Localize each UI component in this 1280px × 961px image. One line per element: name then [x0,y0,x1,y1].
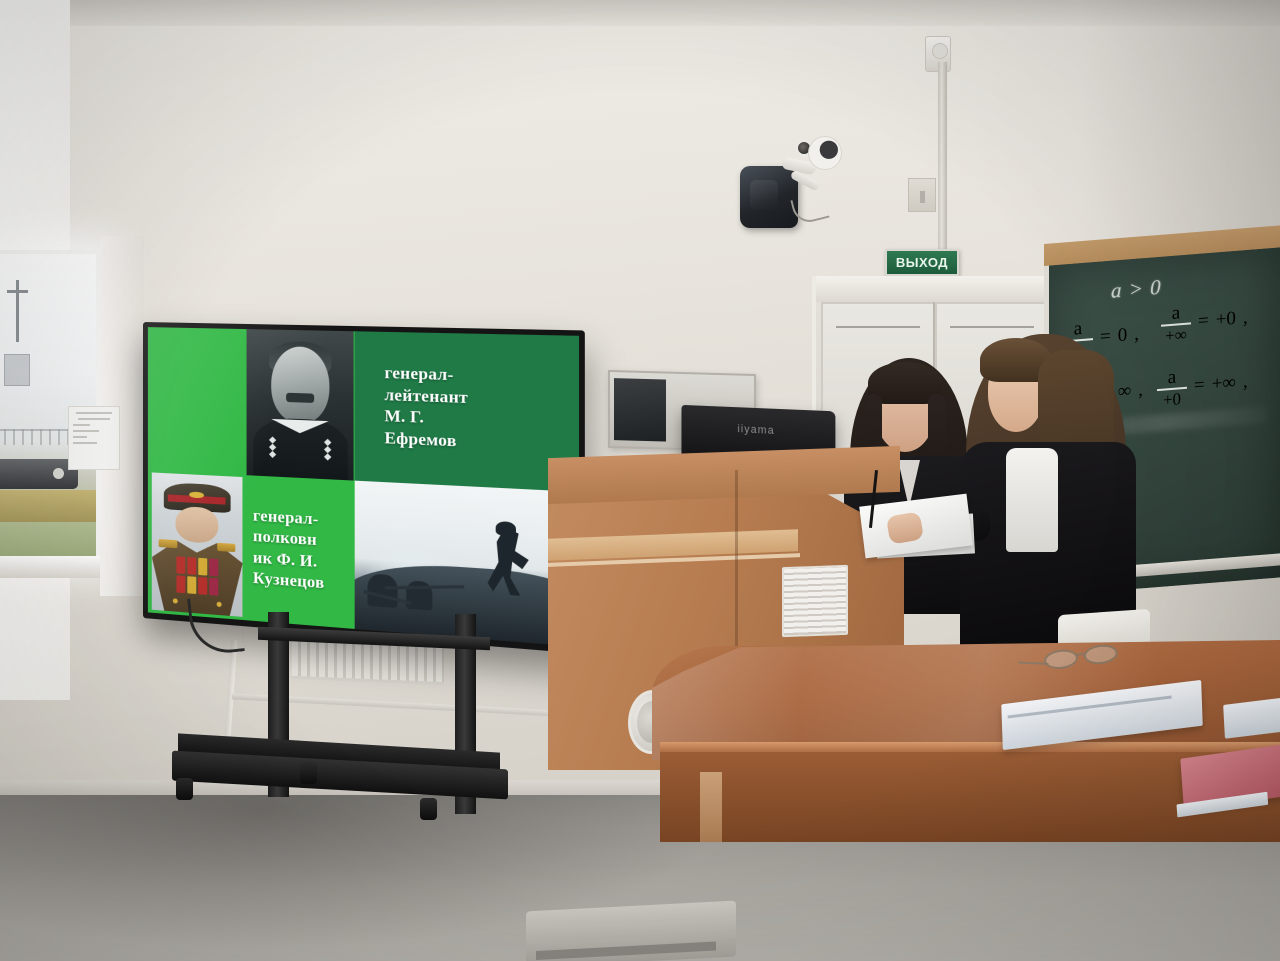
outdoor-building [4,354,30,386]
slide-quadrant-top-right: генерал- лейтенант М. Г. Ефремов [354,331,579,491]
portrait-rank-insignia [266,438,335,462]
outdoor-pole [16,280,19,342]
efremov-caption-line-3: М. Г. [384,407,468,432]
chalk-denominator: +∞ [1165,326,1187,345]
portrait-face [271,346,329,424]
tv-stand-caster [176,778,193,800]
chalk-numerator: a [1168,368,1176,388]
comma: , [1243,307,1248,329]
portrait-epaulette-left [159,539,177,548]
presenter-right [966,330,1130,660]
tv-stand-caster [300,762,317,784]
window-glass [0,254,96,556]
lectern-vent-grille [782,565,848,637]
efremov-caption-line-4: Ефремов [384,428,468,453]
comma: , [1138,379,1143,401]
photo-prone-soldier-1 [367,573,397,608]
monitor-brand-label: iiyama [737,423,774,437]
wall-pipe [938,62,947,262]
outdoor-hedge [0,490,96,522]
wall-socket [908,178,936,212]
foreground-chair[interactable] [526,900,736,961]
equals-sign: = [1194,375,1205,398]
chalk-condition: a > 0 [1111,275,1162,304]
chalk-numerator: a [1172,303,1180,323]
efremov-caption: генерал- лейтенант М. Г. Ефремов [384,364,468,454]
portrait-moustache [286,393,314,403]
chalk-limit-row-1-right: a +∞ = +0 , [1161,298,1248,346]
slide-quadrant-top-left [148,327,354,480]
security-camera-icon [808,136,842,170]
exit-sign-label: ВЫХОД [896,255,948,270]
lecture-hall-scene: ВЫХОД a > 0 a ∞ = 0 , a +∞ [0,0,1280,961]
glasses-lens-left [1043,648,1079,671]
wall-notice-sheet [68,406,120,470]
comma: , [1243,371,1248,393]
equals-sign: = [1198,310,1209,333]
comma: , [1134,324,1139,346]
general-lieutenant-efremov-portrait [247,329,354,480]
outdoor-vehicle [0,459,78,489]
desk-leg-panel [700,772,722,842]
chalk-result: +0 [1216,308,1236,332]
slide-quadrant-bottom-left: генерал- полковн ик Ф. И. Кузнецов [148,470,354,629]
exit-sign: ВЫХОД [885,249,959,276]
cabinet-window [614,378,666,441]
white-top [1006,448,1058,552]
portrait-epaulette-right [217,543,235,553]
door-header [816,276,1054,302]
efremov-caption-line-2: лейтенант [384,385,468,409]
glasses-lens-right [1083,643,1119,666]
wall-speaker-box [740,166,798,228]
chalk-denominator: +0 [1163,391,1181,410]
tv-stand-caster [420,798,437,820]
lectern-seam [735,470,738,670]
portrait-face [175,506,219,545]
kuznetsov-caption: генерал- полковн ик Ф. И. Кузнецов [253,506,350,597]
window-sill [0,556,110,578]
left-window [0,250,100,560]
efremov-caption-line-1: генерал- [384,364,468,388]
chalk-result: +∞ [1212,372,1236,396]
chalk-limit-row-2-right: a +0 = +∞ , [1157,362,1248,410]
